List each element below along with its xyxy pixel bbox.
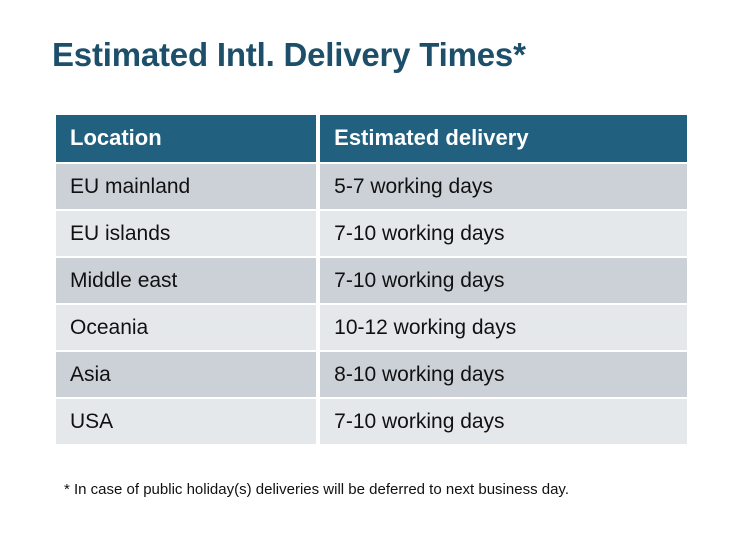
table-header-row: Location Estimated delivery bbox=[56, 115, 687, 162]
table-body: EU mainland 5-7 working days EU islands … bbox=[56, 164, 687, 444]
cell-location: USA bbox=[56, 399, 316, 444]
table-header: Location Estimated delivery bbox=[56, 115, 687, 162]
column-header-location: Location bbox=[56, 115, 316, 162]
table-row: EU islands 7-10 working days bbox=[56, 211, 687, 256]
delivery-times-table: Location Estimated delivery EU mainland … bbox=[52, 113, 691, 446]
cell-location: EU mainland bbox=[56, 164, 316, 209]
column-header-estimated-delivery: Estimated delivery bbox=[320, 115, 687, 162]
table-row: Middle east 7-10 working days bbox=[56, 258, 687, 303]
table-row: Asia 8-10 working days bbox=[56, 352, 687, 397]
cell-delivery: 7-10 working days bbox=[320, 258, 687, 303]
cell-location: EU islands bbox=[56, 211, 316, 256]
cell-location: Asia bbox=[56, 352, 316, 397]
cell-delivery: 8-10 working days bbox=[320, 352, 687, 397]
cell-delivery: 7-10 working days bbox=[320, 399, 687, 444]
footnote-text: * In case of public holiday(s) deliverie… bbox=[64, 481, 569, 498]
cell-delivery: 5-7 working days bbox=[320, 164, 687, 209]
cell-delivery: 10-12 working days bbox=[320, 305, 687, 350]
cell-location: Oceania bbox=[56, 305, 316, 350]
table-row: EU mainland 5-7 working days bbox=[56, 164, 687, 209]
table-row: USA 7-10 working days bbox=[56, 399, 687, 444]
delivery-times-page: Estimated Intl. Delivery Times* Location… bbox=[0, 0, 745, 536]
table-row: Oceania 10-12 working days bbox=[56, 305, 687, 350]
page-title: Estimated Intl. Delivery Times* bbox=[52, 36, 526, 74]
cell-delivery: 7-10 working days bbox=[320, 211, 687, 256]
cell-location: Middle east bbox=[56, 258, 316, 303]
